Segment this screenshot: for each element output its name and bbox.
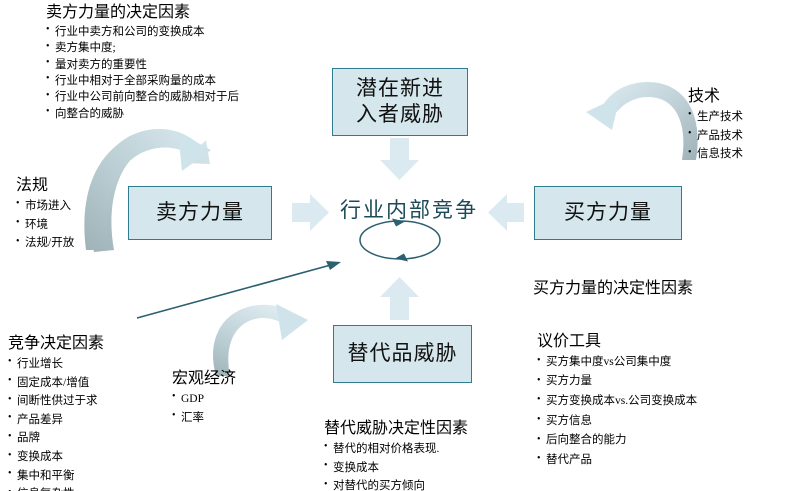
- panel-substitute-factors: 替代威胁决定性因素 替代的相对价格表现. 变换成本 对替代的买方倾向: [324, 420, 468, 491]
- list-item: 替代产品: [537, 451, 697, 471]
- list-item: 买方变换成本vs.公司变换成本: [537, 392, 697, 412]
- list-item: 信息技术: [688, 145, 743, 164]
- list-item: 产品技术: [688, 127, 743, 146]
- list-item: GDP: [172, 390, 236, 409]
- list-item: 环境: [16, 216, 74, 235]
- list-item: 行业中公司前向整合的威胁相对于后: [46, 89, 239, 105]
- porter-five-forces-diagram: 潜在新进 入者威胁 卖方力量 买方力量 替代品威胁 行业内部竞争 卖方力量的决定…: [0, 0, 800, 491]
- list-item: 替代的相对价格表现.: [324, 440, 468, 459]
- list-item: 行业中卖方和公司的变换成本: [46, 24, 239, 40]
- panel-competition-factors: 竞争决定因素 行业增长 固定成本/增值 间断性供过于求 产品差异 品牌 变换成本…: [8, 335, 104, 491]
- block-arrow-new-entrants-to-center: [380, 138, 419, 180]
- list-item: 对替代的买方倾向: [324, 477, 468, 491]
- list-item: 向整合的威胁: [46, 106, 239, 122]
- panel-regulation-list: 市场进入 环境 法规/开放: [16, 197, 74, 253]
- box-buyer-power-label: 买方力量: [564, 200, 652, 226]
- panel-technology: 技术 生产技术 产品技术 信息技术: [688, 88, 743, 164]
- swoosh-arrow-technology: [586, 82, 698, 160]
- box-buyer-power[interactable]: 买方力量: [534, 186, 682, 240]
- list-item: 间断性供过于求: [8, 392, 104, 411]
- panel-macro-economy-heading: 宏观经济: [172, 370, 236, 389]
- list-item: 量对卖方的重要性: [46, 57, 239, 73]
- thin-arrow-competition-to-center: [137, 261, 341, 318]
- panel-competition-factors-list: 行业增长 固定成本/增值 间断性供过于求 产品差异 品牌 变换成本 集中和平衡 …: [8, 355, 104, 491]
- list-item: 行业中相对于全部采购量的成本: [46, 73, 239, 89]
- panel-substitute-factors-list: 替代的相对价格表现. 变换成本 对替代的买方倾向: [324, 440, 468, 491]
- panel-technology-heading: 技术: [688, 88, 743, 107]
- box-threat-of-new-entrants[interactable]: 潜在新进 入者威胁: [332, 68, 468, 136]
- panel-buyer-factors-list: 买方集中度vs公司集中度 买方力量 买方变换成本vs.公司变换成本 买方信息 后…: [537, 353, 697, 470]
- panel-macro-economy: 宏观经济 GDP 汇率: [172, 370, 236, 427]
- list-item: 买方力量: [537, 372, 697, 392]
- list-item: 买方集中度vs公司集中度: [537, 353, 697, 373]
- panel-substitute-factors-heading: 替代威胁决定性因素: [324, 420, 468, 439]
- list-item: 产品差异: [8, 411, 104, 430]
- panel-macro-economy-list: GDP 汇率: [172, 390, 236, 427]
- box-supplier-power[interactable]: 卖方力量: [128, 186, 272, 240]
- center-industry-rivalry-label: 行业内部竞争: [340, 194, 478, 224]
- box-threat-of-new-entrants-label: 潜在新进 入者威胁: [356, 76, 444, 127]
- list-item: 变换成本: [8, 448, 104, 467]
- list-item: 变换成本: [324, 459, 468, 478]
- list-item: 法规/开放: [16, 234, 74, 253]
- list-item: 卖方集中度;: [46, 40, 239, 56]
- panel-regulation: 法规 市场进入 环境 法规/开放: [16, 177, 74, 253]
- block-arrow-substitutes-to-center: [380, 277, 419, 320]
- rivalry-loop-icon: [360, 219, 440, 262]
- list-item: 品牌: [8, 429, 104, 448]
- list-item: 市场进入: [16, 197, 74, 216]
- box-threat-of-substitutes[interactable]: 替代品威胁: [333, 325, 472, 383]
- list-item: 固定成本/增值: [8, 374, 104, 393]
- box-supplier-power-label: 卖方力量: [156, 200, 244, 226]
- panel-supplier-factors-heading: 卖方力量的决定因素: [46, 4, 239, 23]
- list-item: 汇率: [172, 409, 236, 428]
- panel-buyer-factors-heading: 买方力量的决定性因素: [533, 280, 693, 299]
- list-item: 信息复杂性: [8, 485, 104, 491]
- list-item: 买方信息: [537, 412, 697, 432]
- panel-technology-list: 生产技术 产品技术 信息技术: [688, 108, 743, 164]
- panel-buyer-factors-heading-wrap: 买方力量的决定性因素: [533, 280, 693, 299]
- block-arrow-buyers-to-center: [488, 194, 524, 231]
- list-item: 集中和平衡: [8, 467, 104, 486]
- panel-buyer-factors: 议价工具 买方集中度vs公司集中度 买方力量 买方变换成本vs.公司变换成本 买…: [537, 333, 697, 470]
- list-item: 行业增长: [8, 355, 104, 374]
- swoosh-arrow-macro-economy: [213, 304, 308, 376]
- panel-regulation-heading: 法规: [16, 177, 74, 196]
- list-item: 后向整合的能力: [537, 431, 697, 451]
- box-threat-of-substitutes-label: 替代品威胁: [348, 341, 458, 367]
- panel-buyer-factors-subheading: 议价工具: [537, 333, 697, 352]
- panel-competition-factors-heading: 竞争决定因素: [8, 335, 104, 354]
- block-arrow-suppliers-to-center: [292, 194, 329, 231]
- list-item: 生产技术: [688, 108, 743, 127]
- panel-supplier-factors-list: 行业中卖方和公司的变换成本 卖方集中度; 量对卖方的重要性 行业中相对于全部采购…: [46, 24, 239, 122]
- panel-supplier-factors: 卖方力量的决定因素 行业中卖方和公司的变换成本 卖方集中度; 量对卖方的重要性 …: [46, 4, 239, 122]
